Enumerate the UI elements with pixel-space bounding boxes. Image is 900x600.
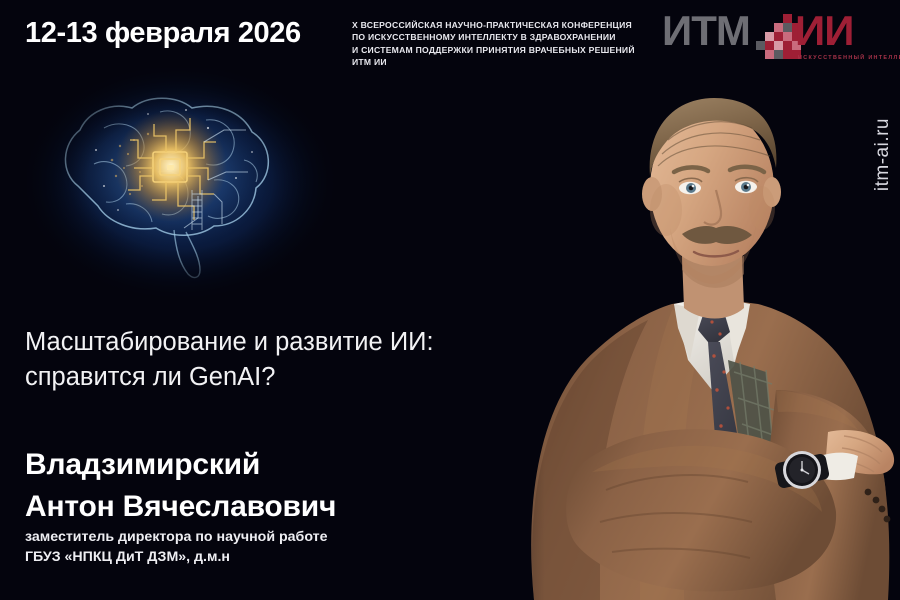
conference-description-line-2: ПО ИСКУССТВЕННОМУ ИНТЕЛЛЕКТУ В ЗДРАВОХРА… bbox=[352, 31, 652, 43]
brain-outline-graphic bbox=[8, 68, 338, 296]
conference-description-line-1: X ВСЕРОССИЙСКАЯ НАУЧНО-ПРАКТИЧЕСКАЯ КОНФ… bbox=[352, 19, 652, 31]
brain-ai-illustration bbox=[8, 68, 338, 296]
speaker-role-line-1: заместитель директора по научной работе bbox=[25, 527, 327, 547]
speaker-first-patronymic: Антон Вячеславович bbox=[25, 486, 336, 528]
logo-wordmark-ii: ИИ bbox=[795, 10, 853, 52]
speaker-name: Владзимирский Антон Вячеславович bbox=[25, 444, 336, 528]
speaker-role: заместитель директора по научной работе … bbox=[25, 527, 327, 567]
speaker-portrait bbox=[476, 60, 900, 600]
itm-ai-logo: ИТМ ИИ ИСКУССТВЕННЫЙ ИНТЕЛЛЕКТ bbox=[662, 8, 890, 68]
moustache bbox=[682, 226, 752, 244]
talk-title-line-1: Масштабирование и развитие ИИ: bbox=[25, 325, 525, 360]
event-date: 12-13 февраля 2026 bbox=[25, 17, 301, 50]
speaker-portrait-graphic bbox=[476, 60, 900, 600]
talk-title-line-2: справится ли GenAI? bbox=[25, 360, 525, 395]
conference-description-line-3: И СИСТЕМАМ ПОДДЕРЖКИ ПРИНЯТИЯ ВРАЧЕБНЫХ … bbox=[352, 44, 652, 56]
logo-wordmark-itm: ИТМ bbox=[662, 10, 750, 52]
talk-title: Масштабирование и развитие ИИ: справится… bbox=[25, 325, 525, 395]
conference-announcement-poster: 12-13 февраля 2026 X ВСЕРОССИЙСКАЯ НАУЧН… bbox=[0, 0, 900, 600]
speaker-last-name: Владзимирский bbox=[25, 444, 336, 486]
speaker-role-line-2: ГБУЗ «НПКЦ ДиТ ДЗМ», д.м.н bbox=[25, 547, 327, 567]
